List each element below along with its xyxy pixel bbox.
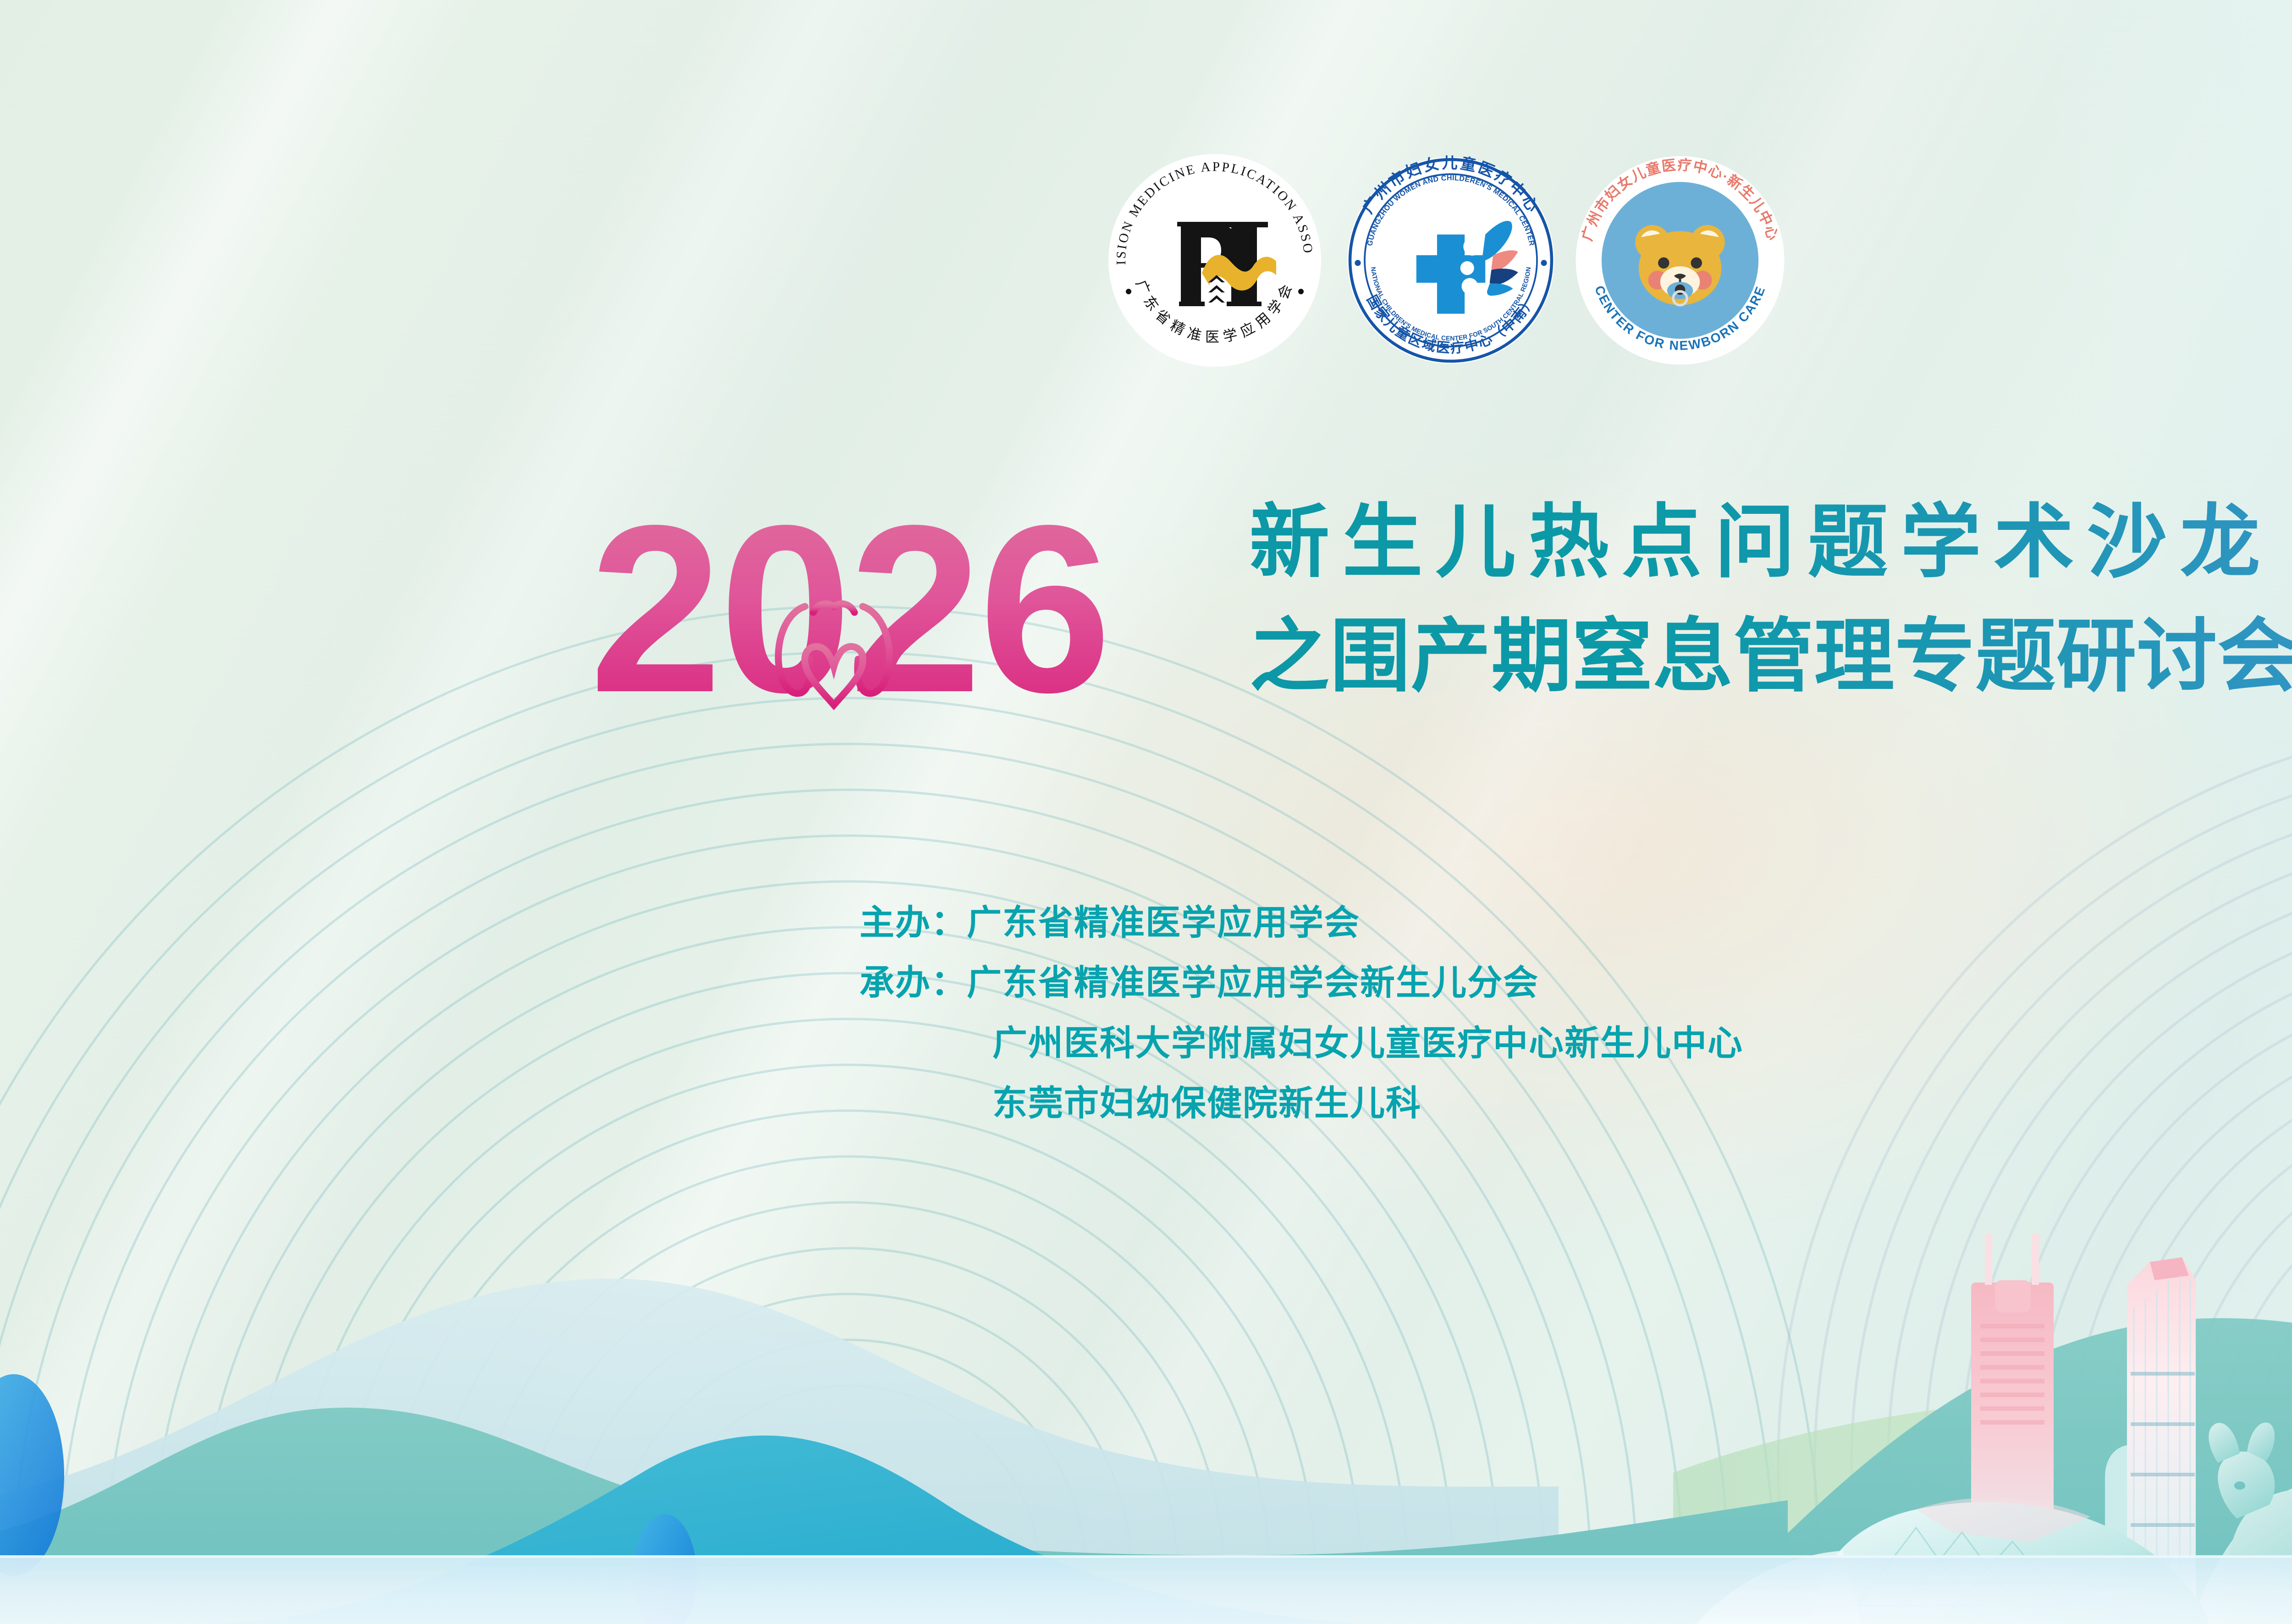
organizer-list: 主办：广东省精准医学应用学会 承办：广东省精准医学应用学会新生儿分会 广州医科大… [859,893,1743,1134]
organizer-line-host: 主办：广东省精准医学应用学会 [859,893,1743,953]
logo-center-for-newborn-care: 广州市妇女儿童医疗中心·新生儿中心 CENTER FOR NEWBORN CAR… [1572,153,1788,368]
organization-logos: GD PRECISION MEDICINE APPLICATION ASSOCI… [0,146,2292,375]
organizer-line-unit-1: 广州医科大学附属妇女儿童医疗中心新生儿中心 [859,1013,1743,1073]
hero-title-lines: 新生儿热点问题学术沙龙 之围产期窒息管理专题研讨会 [1250,486,2292,714]
organizer-line-coorganizer: 承办：广东省精准医学应用学会新生儿分会 [859,953,1743,1013]
logo-guangzhou-women-children-medical-center: 广州市妇女儿童医疗中心 GUANGZHOU WOMEN AND CHILDERE… [1343,153,1559,368]
hero-year-2026: 2026 [590,490,1240,732]
hero-title-block: 2026 新生儿热点问题学术沙龙 之围产期窒息管理专题研讨会 [0,486,2292,779]
hero-title-line-2: 之围产期窒息管理专题研讨会 [1250,600,2292,714]
hero-title-line-1: 新生儿热点问题学术沙龙 [1250,486,2292,600]
hero-year-text: 2026 [590,490,1109,732]
logo-gd-precision-medicine-association: GD PRECISION MEDICINE APPLICATION ASSOCI… [1100,146,1329,375]
poster-canvas: GD PRECISION MEDICINE APPLICATION ASSOCI… [0,0,2292,1624]
organizer-line-unit-2: 东莞市妇幼保健院新生儿科 [859,1073,1743,1134]
